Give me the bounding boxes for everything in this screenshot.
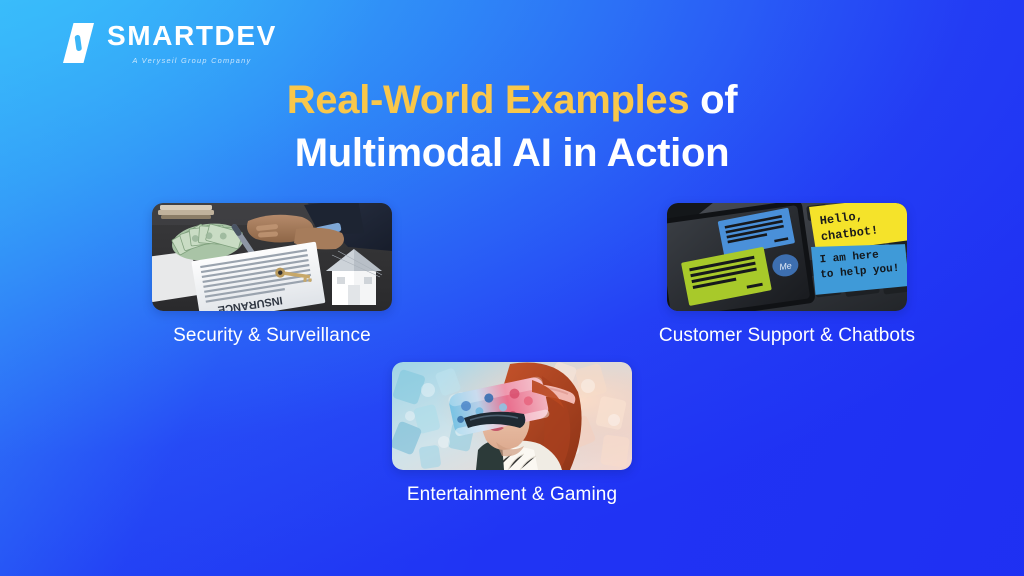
chatbot-sticky-notes-photo: Me Hello, chatbot! — [667, 203, 907, 311]
card-entertainment[interactable]: Entertainment & Gaming — [392, 362, 632, 506]
card-support-label: Customer Support & Chatbots — [651, 324, 923, 347]
brand-logo: SMARTDEV A Veryseil Group Company — [63, 22, 277, 64]
smartdev-d-mark-icon — [63, 23, 94, 63]
insurance-signing-photo: INSURANCE — [152, 203, 392, 311]
headline-accent-text: Real-World Examples — [287, 78, 690, 122]
slide-canvas: SMARTDEV A Veryseil Group Company Real-W… — [0, 0, 1024, 576]
brand-name: SMARTDEV — [107, 22, 277, 50]
card-support[interactable]: Me Hello, chatbot! — [667, 203, 907, 347]
card-entertainment-label: Entertainment & Gaming — [384, 483, 640, 506]
vr-headset-woman-photo — [392, 362, 632, 470]
brand-tagline: A Veryseil Group Company — [132, 57, 251, 64]
card-security-label: Security & Surveillance — [152, 324, 392, 347]
headline-line-1: Real-World Examples of — [0, 74, 1024, 127]
headline-line-1-rest: of — [689, 78, 737, 122]
card-security[interactable]: INSURANCE — [152, 203, 392, 347]
page-title: Real-World Examples of Multimodal AI in … — [0, 74, 1024, 180]
svg-text:Me: Me — [779, 261, 793, 273]
headline-line-2: Multimodal AI in Action — [0, 127, 1024, 180]
